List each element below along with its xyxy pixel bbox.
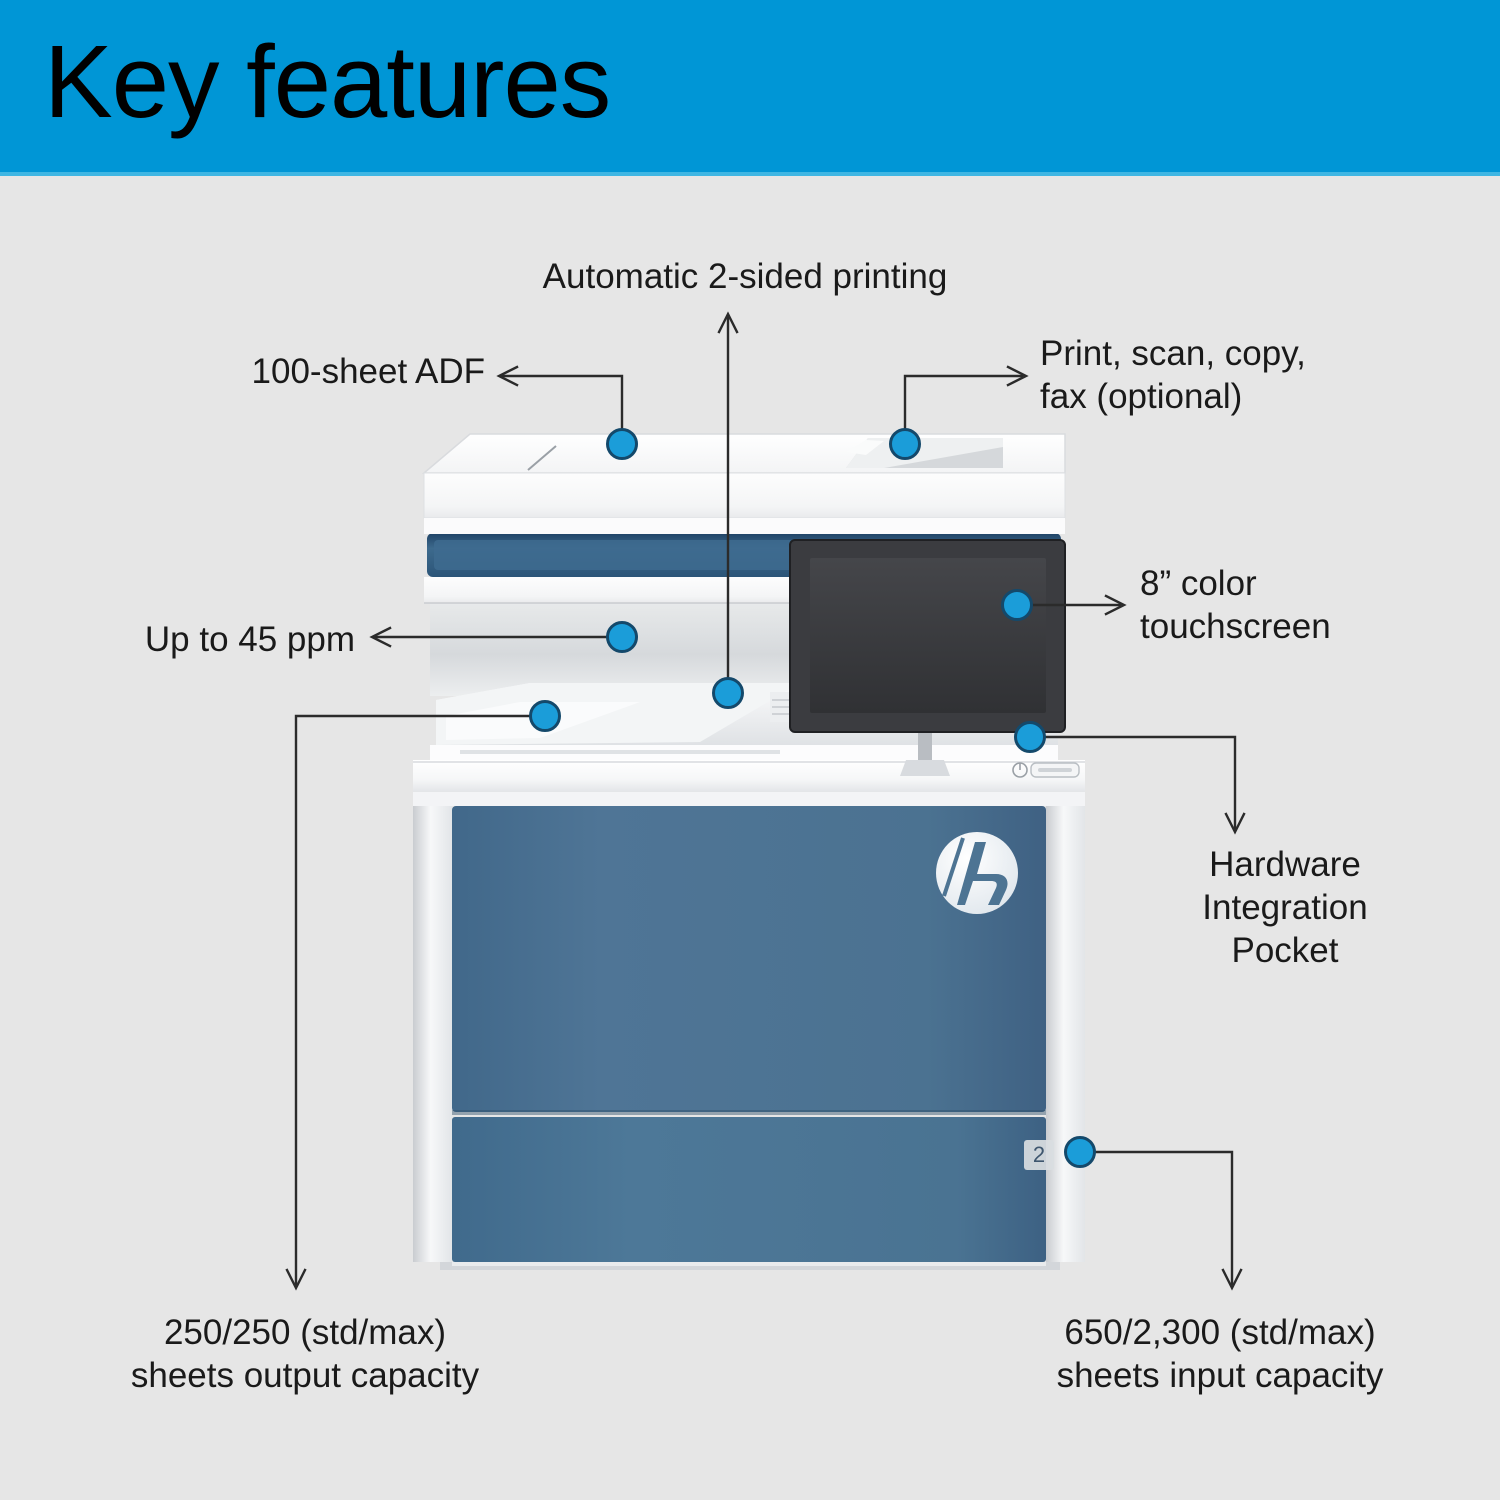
printer-chassis: 2 [413,792,1085,1270]
callout-label-input-capacity: 650/2,300 (std/max) sheets input capacit… [985,1311,1455,1397]
callout-dot-touchscreen[interactable] [1001,589,1033,621]
callout-dot-duplex[interactable] [712,677,744,709]
svg-text:2: 2 [1033,1142,1045,1167]
callout-dot-input[interactable] [1064,1136,1096,1168]
callout-dot-adf-input[interactable] [889,428,921,460]
control-panel-ledge [413,760,1085,792]
callout-dot-output[interactable] [529,700,561,732]
tray-badge: 2 [1024,1140,1054,1170]
callout-label-adf: 100-sheet ADF [130,350,485,393]
callout-label-ppm: Up to 45 ppm [60,618,355,661]
callout-label-output-capacity: 250/250 (std/max) sheets output capacity [55,1311,555,1397]
product-illustration: 2 [0,0,1500,1500]
callout-dot-adf[interactable] [606,428,638,460]
infographic-page: Key features [0,0,1500,1500]
callout-dot-hip[interactable] [1014,721,1046,753]
callout-label-hardware-integration-pocket: Hardware Integration Pocket [1125,843,1445,972]
callout-label-print-scan-copy-fax: Print, scan, copy, fax (optional) [1040,332,1390,418]
hp-logo [936,832,1018,914]
callout-label-duplex: Automatic 2-sided printing [480,255,1010,298]
callout-dot-ppm[interactable] [606,621,638,653]
callout-label-touchscreen: 8” color touchscreen [1140,562,1460,648]
